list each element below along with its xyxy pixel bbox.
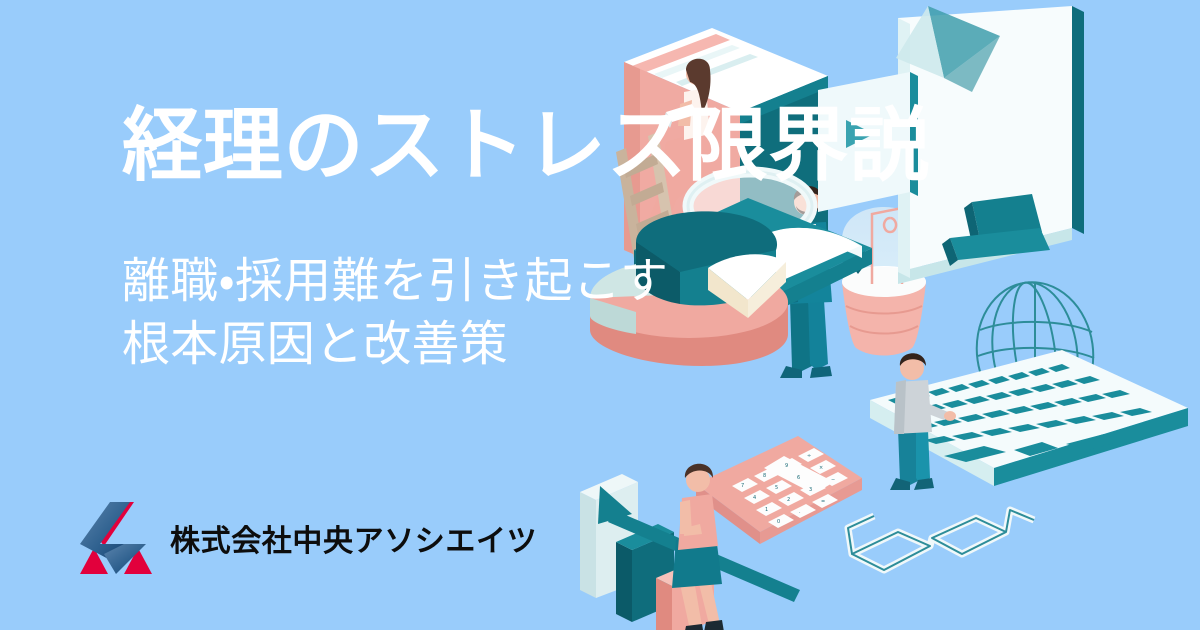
svg-text:÷: ÷ [807, 453, 811, 459]
svg-text:6: 6 [797, 475, 800, 481]
subtitle-line-2: 根本原因と改善策 [122, 313, 930, 376]
svg-text:4: 4 [753, 495, 756, 501]
svg-text:7: 7 [741, 483, 744, 489]
svg-text:−: − [831, 477, 835, 483]
page-subtitle: 離職・採用難を引き起こす 根本原因と改善策 [122, 250, 930, 377]
poster-canvas: 78 9÷ 45 6× 12 3− 0. = [0, 0, 1200, 630]
page-title: 経理のストレス限界説 [122, 104, 930, 188]
company-name: 株式会社中央アソシエイツ [170, 516, 537, 560]
svg-text:5: 5 [775, 485, 778, 491]
company-logo: 株式会社中央アソシエイツ [78, 500, 537, 576]
eyeglasses [848, 510, 1034, 570]
svg-text:8: 8 [763, 473, 766, 479]
svg-text:0: 0 [777, 519, 780, 525]
calculator: 78 9÷ 45 6× 12 3− 0. = [696, 436, 862, 544]
headline-group: 経理のストレス限界説 離職・採用難を引き起こす 根本原因と改善策 [122, 104, 930, 377]
svg-text:1: 1 [765, 507, 768, 513]
subtitle-line-1: 離職・採用難を引き起こす [122, 250, 930, 313]
logo-mark-icon [78, 500, 154, 576]
svg-text:2: 2 [787, 497, 790, 503]
svg-text:3: 3 [809, 487, 812, 493]
svg-text:×: × [819, 465, 823, 471]
svg-text:9: 9 [785, 463, 788, 469]
svg-text:=: = [821, 499, 825, 505]
